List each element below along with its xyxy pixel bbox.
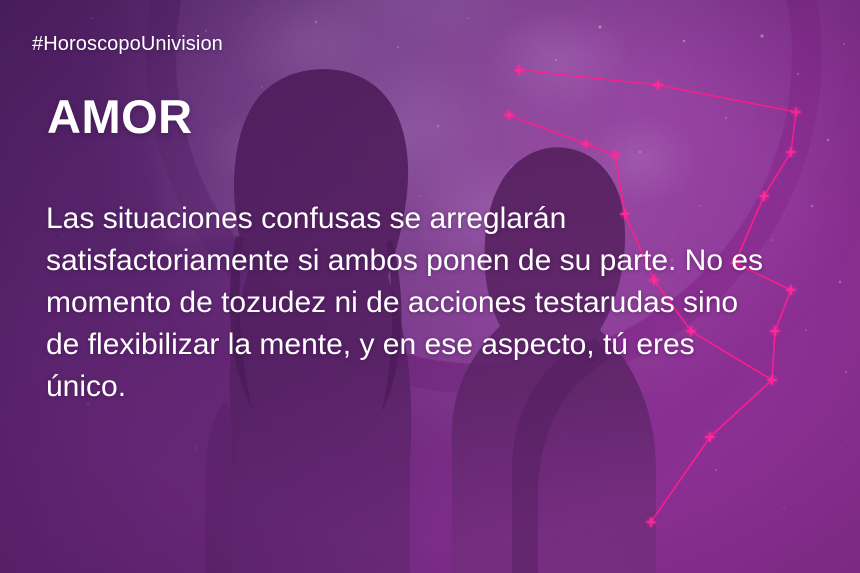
- horoscope-card: #HoroscopoUnivision AMOR Las situaciones…: [0, 0, 860, 573]
- hashtag-label: #HoroscopoUnivision: [32, 33, 223, 56]
- horoscope-body-text: Las situaciones confusas se arreglarán s…: [46, 198, 816, 408]
- page-title: AMOR: [47, 93, 193, 140]
- card-content: #HoroscopoUnivision AMOR Las situaciones…: [0, 0, 860, 573]
